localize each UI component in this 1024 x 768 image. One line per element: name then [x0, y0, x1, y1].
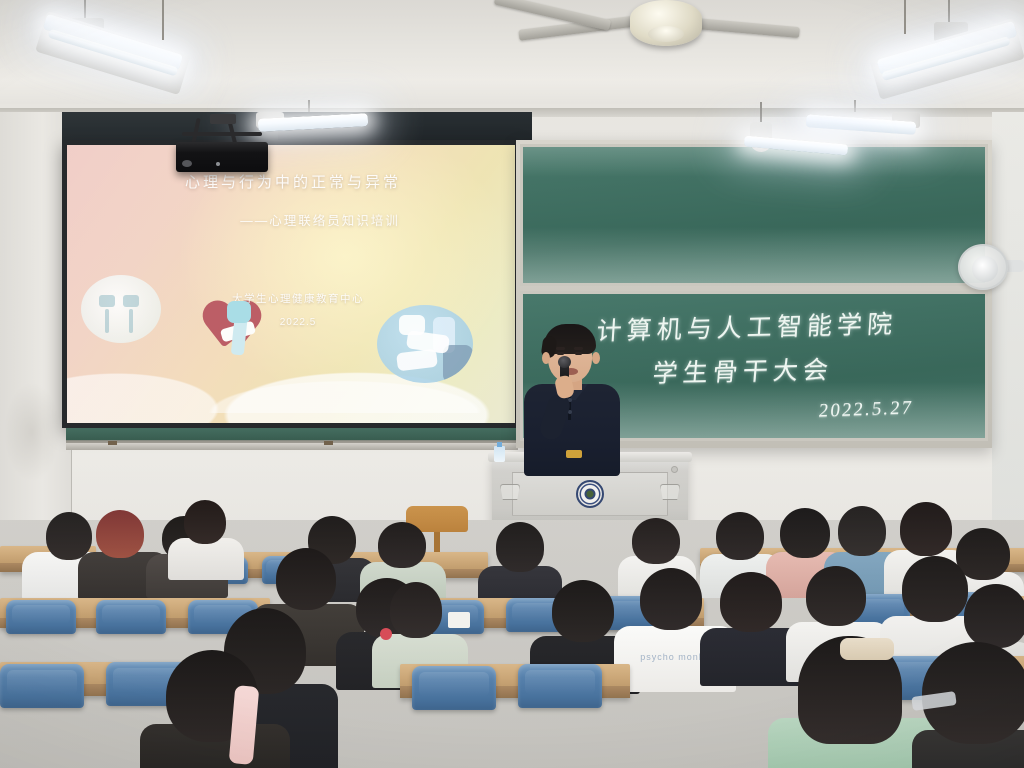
- water-bottle: [494, 446, 505, 462]
- lectern-panel: [512, 472, 668, 516]
- presenter-badge: [566, 450, 582, 458]
- presenter: [516, 322, 628, 472]
- seat[interactable]: [412, 666, 496, 710]
- handshake-illustration: [219, 295, 257, 355]
- people-circle-illustration: [81, 275, 161, 343]
- lectern-side-graphic: [660, 484, 680, 500]
- university-seal-emblem: [576, 480, 604, 508]
- fluorescent-light-fixture: [862, 22, 1024, 108]
- lectern-side-graphic: [500, 484, 520, 500]
- seat[interactable]: [518, 664, 602, 708]
- audience-member-foreground: [912, 642, 1024, 768]
- chalkboard-heading-line2: 学生骨干大会: [651, 350, 834, 390]
- chalk-tray: [66, 443, 518, 450]
- seat[interactable]: [6, 600, 76, 634]
- fluorescent-light-fixture: [110, 0, 170, 48]
- fan-hub: [630, 0, 702, 46]
- slide-date: 2022.5: [67, 317, 515, 328]
- audience-member-foreground: [140, 650, 290, 768]
- audience-member: [168, 500, 244, 572]
- projector-mount: [170, 118, 274, 144]
- window-wall-strip: [992, 112, 1024, 532]
- seat[interactable]: [96, 600, 166, 634]
- classroom-photo-scene: 心理与行为中的正常与异常 ——心理联络员知识培训 大学生心理健康教育中心 202…: [0, 0, 1024, 768]
- slide-title: 心理与行为中的正常与异常: [67, 171, 515, 192]
- wall-mounted-fan: [958, 240, 1024, 310]
- fluorescent-light-fixture: [740, 134, 860, 174]
- presenter-hair: [544, 324, 596, 354]
- rear-chalkboard-edge: [66, 428, 518, 450]
- ceiling-fan: [440, 0, 740, 54]
- chalkboard-date: 2022.5.27: [818, 397, 915, 422]
- red-object-on-desk: [380, 628, 392, 640]
- fluorescent-light-fixture: [890, 0, 930, 42]
- slide-subtitle: ——心理联络员知识培训: [67, 210, 515, 229]
- wall-smudge: [4, 382, 60, 482]
- projected-slide: 心理与行为中的正常与异常 ——心理联络员知识培训 大学生心理健康教育中心 202…: [67, 145, 515, 423]
- ceiling-mounted-projector: [176, 142, 268, 172]
- projection-screen: 心理与行为中的正常与异常 ——心理联络员知识培训 大学生心理健康教育中心 202…: [62, 140, 520, 428]
- slide-organization: 大学生心理健康教育中心: [67, 291, 515, 306]
- paper-on-desk: [448, 612, 470, 628]
- seat[interactable]: [0, 664, 84, 708]
- lectern-control-knob[interactable]: [671, 466, 678, 473]
- bag-on-desk: [840, 638, 894, 660]
- chalkboard-heading-line1: 计算机与人工智能学院: [596, 304, 899, 347]
